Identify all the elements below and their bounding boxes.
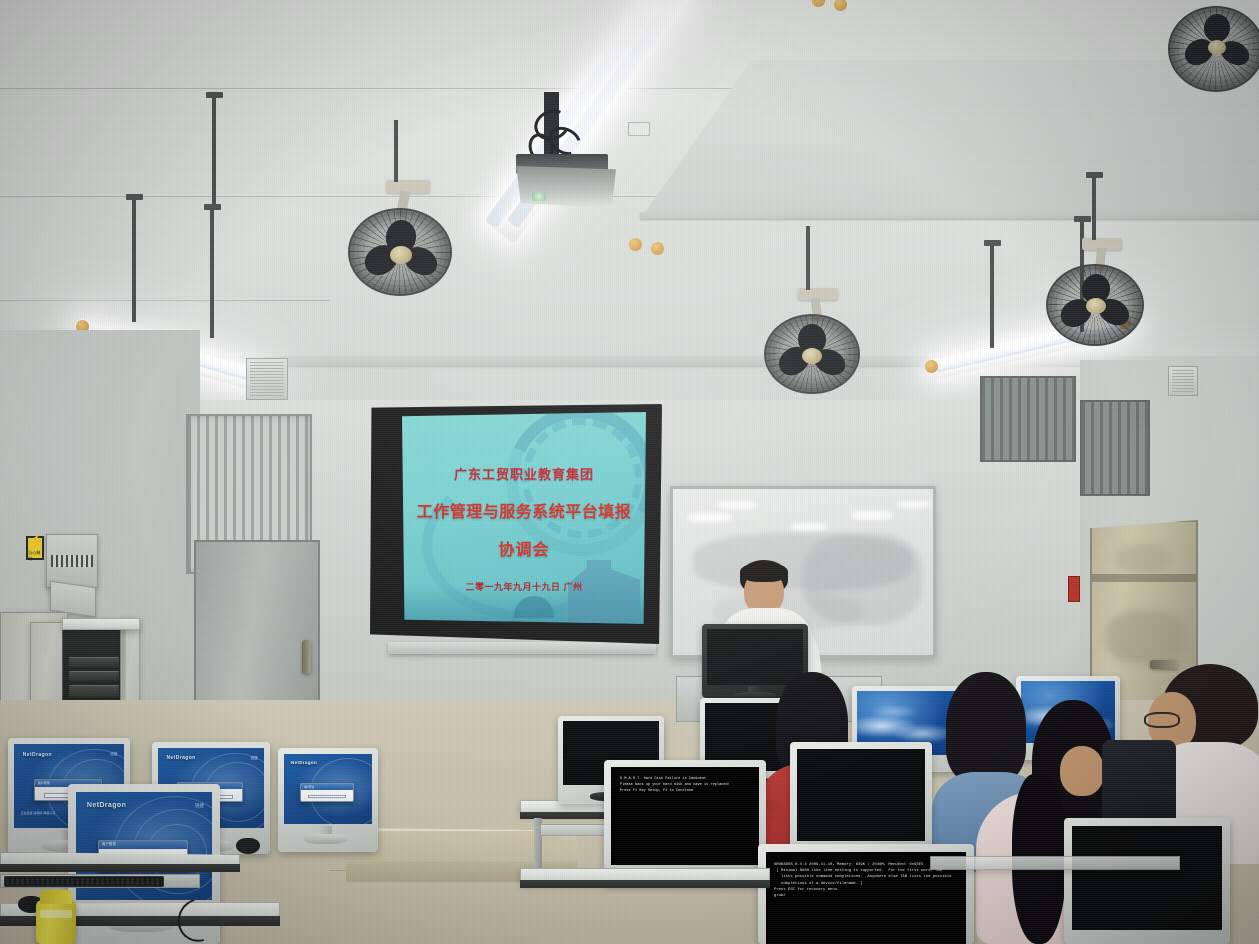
keyboard[interactable] bbox=[4, 876, 164, 887]
thermos-bottle bbox=[36, 900, 76, 944]
attendee-hair bbox=[946, 672, 1026, 782]
fan-mount-rod bbox=[394, 120, 398, 182]
monitor-bios-warning: S.M.A.R.T. Hard Disk Failure is Imminent… bbox=[604, 760, 766, 884]
fluorescent-tube-light bbox=[640, 0, 900, 270]
wall-mounted-fan-far-right bbox=[1168, 0, 1259, 100]
screen-roller-bar bbox=[388, 642, 656, 654]
bios-line: Press F1 Key Setup, F2 to Continue bbox=[620, 789, 750, 795]
ceiling-mounted-projector bbox=[498, 92, 638, 222]
login-corner-label: 锐捷 bbox=[110, 752, 117, 757]
login-corner-label: 锐捷 bbox=[250, 756, 257, 761]
login-corner-label: 锐捷 bbox=[195, 803, 204, 809]
login-brand: NetDragon bbox=[166, 755, 195, 761]
wall-mounted-fan-left bbox=[338, 180, 466, 300]
slide-headline: 工作管理与服务系统平台填报 bbox=[402, 498, 646, 522]
thermos-cap bbox=[40, 890, 72, 904]
fan-mount-rod bbox=[212, 96, 216, 206]
projection-screen: 广东工贸职业教育集团 工作管理与服务系统平台填报 协调会 二零一九年九月十九日 … bbox=[370, 404, 666, 654]
monitor-login-3: NetDragon 用户登录 bbox=[278, 748, 378, 852]
fan-mount-rod bbox=[806, 226, 810, 290]
lightning-bolt-icon: ⚡ bbox=[26, 535, 45, 550]
wall-mounted-fan-center bbox=[756, 288, 872, 398]
grub-line: grub> bbox=[774, 893, 958, 899]
monitor-foreground-right-black bbox=[1064, 818, 1230, 944]
slide-subhead: 协调会 bbox=[402, 536, 646, 560]
wall-mounted-fan-right bbox=[1038, 238, 1156, 350]
projected-slide: 广东工贸职业教育集团 工作管理与服务系统平台填报 协调会 二零一九年九月十九日 … bbox=[402, 412, 646, 626]
login-dialog-title: 用户登录 bbox=[99, 841, 187, 850]
classroom-photo: ⚡ 当心触电 bbox=[0, 0, 1259, 944]
wall-outlet bbox=[628, 122, 650, 136]
electrical-distribution-panel bbox=[46, 534, 98, 588]
grub-line: lists possible command completions. Anyw… bbox=[774, 874, 958, 880]
monitor-foreground-black bbox=[790, 742, 932, 860]
cabinet-top-tray bbox=[62, 618, 140, 630]
wall-speaker-right bbox=[1168, 366, 1198, 396]
bios-screen: S.M.A.R.T. Hard Disk Failure is Imminent… bbox=[611, 767, 759, 865]
login-brand: NetDragon bbox=[87, 802, 126, 809]
window-grate-right bbox=[1080, 400, 1150, 496]
login-dialog: 用户登录 bbox=[300, 783, 355, 801]
login-status-text: 正在连接 请稍候 网络认证 bbox=[21, 811, 56, 815]
login-brand: NetDragon bbox=[291, 760, 317, 765]
mouse[interactable] bbox=[236, 838, 260, 854]
login-brand: NetDragon bbox=[23, 752, 52, 758]
electric-shock-warning-sign: ⚡ 当心触电 bbox=[26, 536, 44, 560]
door-handle bbox=[302, 640, 311, 674]
login-username-field[interactable] bbox=[308, 795, 346, 799]
slide-date-location: 二零一九年九月十九日 广州 bbox=[402, 580, 646, 593]
fan-mount-rod bbox=[1092, 176, 1096, 240]
desk-right-front bbox=[930, 856, 1180, 870]
wall-speaker bbox=[246, 358, 288, 400]
eyeglasses bbox=[1144, 712, 1180, 728]
slide-organization: 广东工贸职业教育集团 bbox=[402, 464, 646, 483]
login-dialog-title: 用户登录 bbox=[301, 784, 354, 789]
warning-label: 当心触电 bbox=[28, 550, 42, 562]
fire-safety-sign bbox=[1068, 576, 1080, 602]
window-grate-upper-right bbox=[980, 376, 1076, 462]
